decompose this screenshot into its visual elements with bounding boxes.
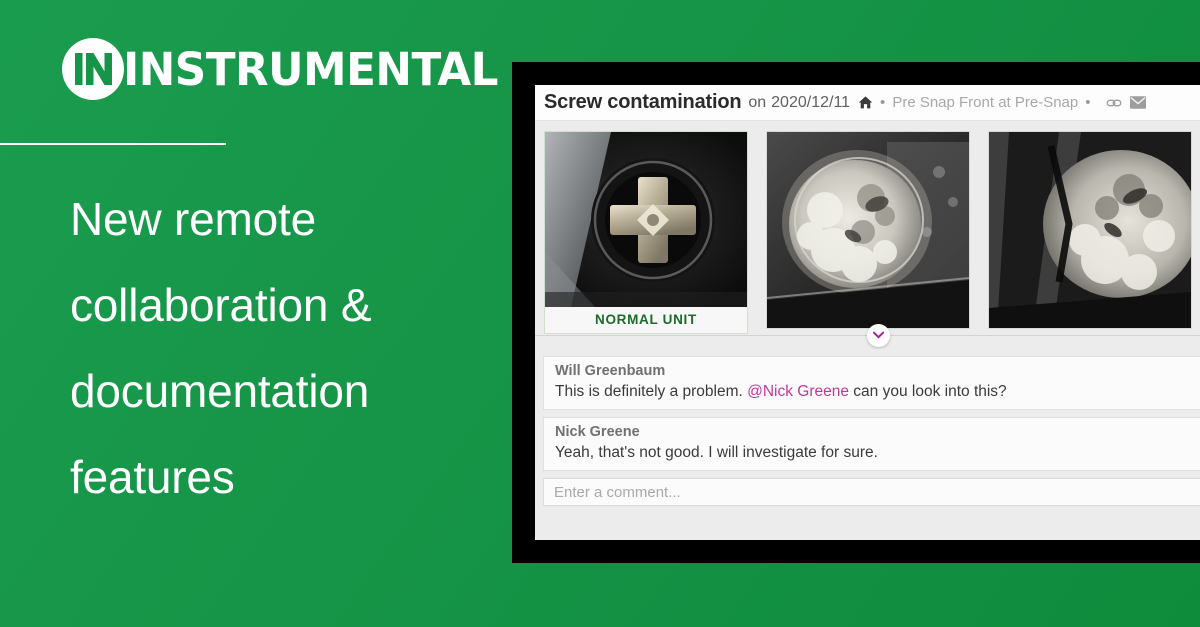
- instrumental-monogram-icon: [62, 38, 124, 100]
- expand-row: [535, 321, 1200, 349]
- comment-author: Nick Greene: [555, 424, 1200, 440]
- screw-head-contaminated-2-image: [989, 132, 1191, 328]
- document-date: 2020/12/11: [771, 94, 850, 112]
- breadcrumb[interactable]: Pre Snap Front at Pre-Snap: [892, 94, 1078, 111]
- comment-body: This is definitely a problem. @Nick Gree…: [555, 383, 1200, 401]
- screw-image-contaminated-2[interactable]: [989, 132, 1191, 328]
- screw-image-normal[interactable]: [545, 132, 747, 307]
- image-strip: NORMAL UNIT: [535, 121, 1200, 349]
- headline-line-3: documentation: [70, 365, 369, 417]
- comment-item: Nick Greene Yeah, that's not good. I wil…: [543, 417, 1200, 471]
- header-separator-1: •: [880, 95, 885, 110]
- page-title: New remote collaboration & documentation…: [70, 176, 490, 520]
- screw-head-contaminated-1-image: [767, 132, 969, 328]
- logo-wordmark: INSTRUMENTAL: [123, 47, 498, 92]
- divider: [0, 143, 226, 145]
- document-title: Screw contamination: [544, 91, 741, 114]
- comment-list: Will Greenbaum This is definitely a prob…: [535, 349, 1200, 540]
- header-separator-2: •: [1085, 95, 1090, 110]
- comment-mention[interactable]: @Nick Greene: [747, 383, 849, 400]
- headline-line-2: collaboration &: [70, 279, 371, 331]
- thumbnail-card[interactable]: [988, 131, 1192, 329]
- comment-author: Will Greenbaum: [555, 363, 1200, 379]
- comment-text-before: This is definitely a problem.: [555, 383, 747, 400]
- screw-image-contaminated-1[interactable]: [767, 132, 969, 328]
- screenshot-frame: Screw contamination on 2020/12/11 • Pre …: [512, 62, 1200, 563]
- comment-body: Yeah, that's not good. I will investigat…: [555, 444, 1200, 462]
- comment-text-after: can you look into this?: [849, 383, 1007, 400]
- thumbnail-card[interactable]: NORMAL UNIT: [544, 131, 748, 334]
- expand-button[interactable]: [867, 324, 890, 347]
- thumbnail-card[interactable]: [766, 131, 970, 329]
- app-header: Screw contamination on 2020/12/11 • Pre …: [535, 85, 1200, 121]
- headline-line-4: features: [70, 451, 235, 503]
- chevron-down-icon: [873, 331, 884, 339]
- envelope-icon[interactable]: [1130, 96, 1146, 109]
- comment-text-before: Yeah, that's not good. I will investigat…: [555, 444, 878, 461]
- screw-head-normal-image: [545, 132, 747, 307]
- headline-line-1: New remote: [70, 193, 316, 245]
- link-icon[interactable]: [1106, 95, 1122, 111]
- logo: INSTRUMENTAL: [62, 38, 510, 100]
- document-date-prefix: on: [748, 94, 766, 112]
- home-icon[interactable]: [858, 95, 873, 110]
- comment-input[interactable]: [543, 478, 1200, 506]
- app-window: Screw contamination on 2020/12/11 • Pre …: [535, 85, 1200, 540]
- promo-banner: INSTRUMENTAL New remote collaboration & …: [0, 0, 1200, 627]
- brand-column: INSTRUMENTAL New remote collaboration & …: [0, 0, 512, 627]
- comment-item: Will Greenbaum This is definitely a prob…: [543, 356, 1200, 410]
